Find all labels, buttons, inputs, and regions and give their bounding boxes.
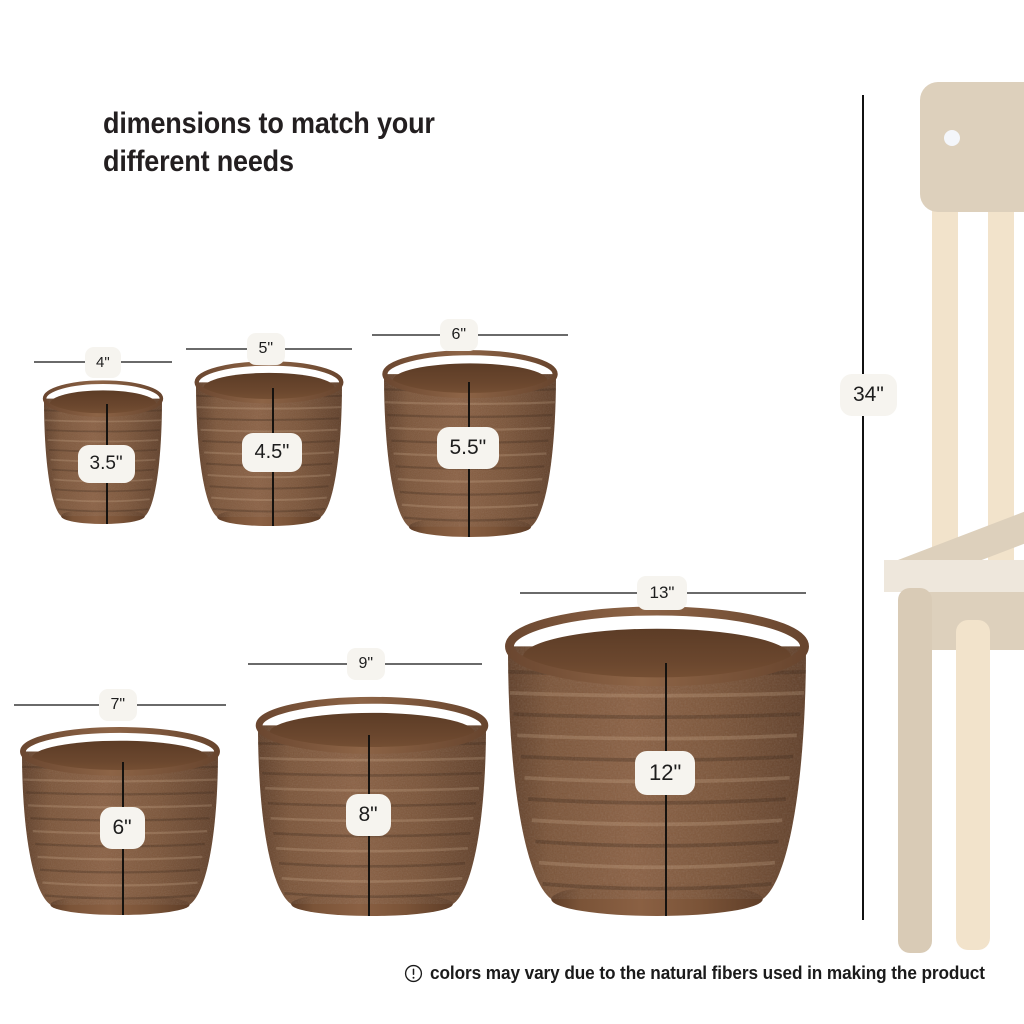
disclaimer: colors may vary due to the natural fiber… [404, 962, 1024, 984]
disclaimer-text: colors may vary due to the natural fiber… [430, 962, 985, 984]
pot-7in-width-badge: 7" [99, 689, 138, 721]
chair-seat-front-edge [884, 560, 1024, 592]
infographic-canvas: dimensions to match your different needs… [0, 0, 1024, 1024]
chair-height-line [862, 95, 864, 920]
pot-13in-height-badge: 12" [635, 751, 695, 795]
screw-dot [944, 130, 960, 146]
pot-5in-width-badge: 5" [247, 333, 286, 365]
exclamation-circle-icon [404, 964, 423, 983]
pot-6in-width-badge: 6" [440, 319, 479, 351]
chair-height-badge: 34" [840, 374, 897, 416]
pot-6in-height-badge: 5.5" [437, 427, 500, 469]
pot-4in-width-badge: 4" [85, 347, 121, 378]
chair-leg-front [898, 588, 932, 953]
pot-9in-height-badge: 8" [346, 794, 391, 836]
pot-5in-height-badge: 4.5" [242, 433, 303, 472]
pot-4in-height-badge: 3.5" [78, 445, 135, 483]
chair-top-rail [920, 82, 1024, 212]
chair-leg-rear [956, 620, 990, 950]
reference-chair [860, 60, 1024, 940]
pot-7in-height-badge: 6" [100, 807, 145, 849]
pot-13in-width-badge: 13" [637, 576, 688, 610]
pot-9in-width-badge: 9" [347, 648, 386, 680]
page-title: dimensions to match your different needs [103, 105, 481, 182]
